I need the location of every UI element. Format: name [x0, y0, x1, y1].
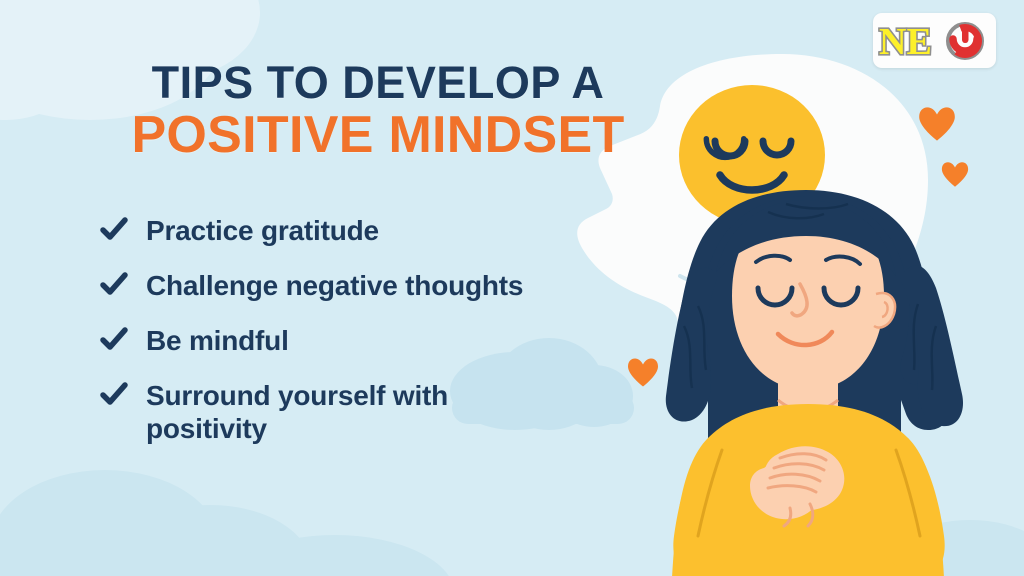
tip-label: Be mindful [146, 324, 289, 357]
check-icon [100, 214, 128, 244]
tip-label: Surround yourself with positivity [146, 379, 536, 445]
power-icon [947, 23, 982, 58]
page-title-line-2: POSITIVE MINDSET [88, 107, 668, 163]
heart-icon-3 [627, 357, 659, 388]
list-item: Challenge negative thoughts [100, 269, 570, 302]
neo-logo-text: NE [879, 21, 932, 63]
neo-logo-graphic: NE [877, 19, 993, 63]
check-icon [100, 379, 128, 409]
woman-hands-on-heart-illustration [618, 186, 998, 576]
page-title-line-1: TIPS TO DEVELOP A [88, 60, 668, 105]
tip-label: Challenge negative thoughts [146, 269, 523, 302]
list-item: Practice gratitude [100, 214, 570, 247]
neo-logo[interactable]: NE [873, 13, 996, 68]
heart-icon-2 [941, 161, 969, 188]
heading-block: TIPS TO DEVELOP A POSITIVE MINDSET [88, 60, 668, 163]
check-icon [100, 269, 128, 299]
list-item: Surround yourself with positivity [100, 379, 570, 445]
tip-label: Practice gratitude [146, 214, 379, 247]
infographic-canvas: TIPS TO DEVELOP A POSITIVE MINDSET Pract… [0, 0, 1024, 576]
list-item: Be mindful [100, 324, 570, 357]
heart-icon-1 [918, 106, 956, 142]
check-icon [100, 324, 128, 354]
tips-list: Practice gratitude Challenge negative th… [100, 214, 570, 467]
